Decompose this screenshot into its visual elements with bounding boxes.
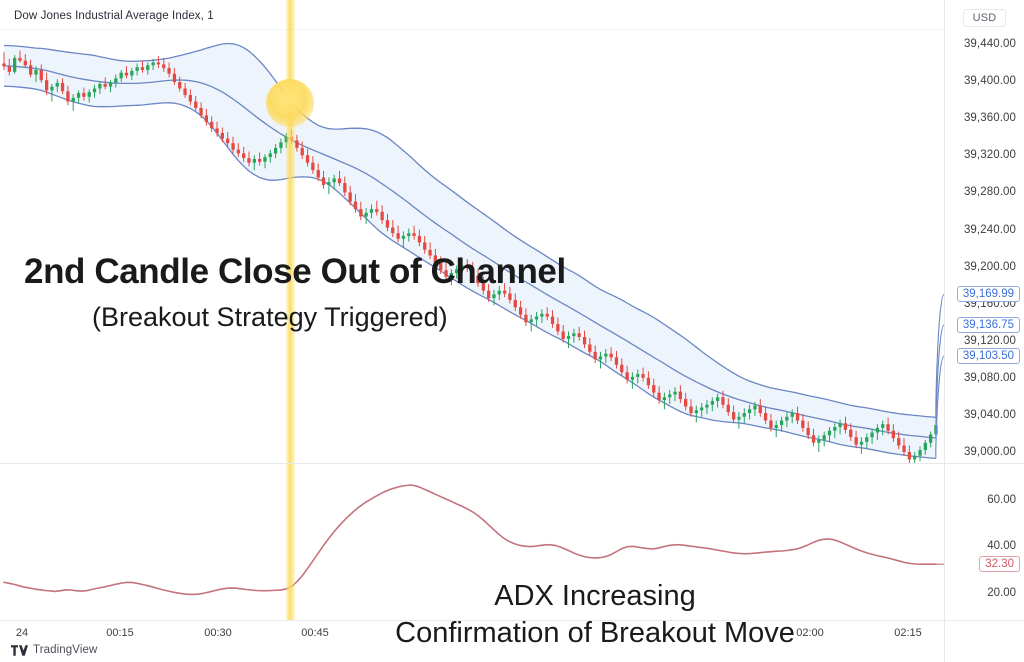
price-pane[interactable] — [0, 0, 944, 463]
band-price-label-bollinger-lower[interactable]: 39,103.50 — [957, 348, 1020, 364]
price-tick: 39,040.00 — [964, 409, 1016, 421]
currency-badge[interactable]: USD — [963, 9, 1007, 27]
time-tick: 00:15 — [106, 627, 134, 639]
time-axis[interactable]: 2400:1500:3000:4502:0002:15 — [0, 620, 944, 646]
symbol-title[interactable]: Dow Jones Industrial Average Index, 1 — [14, 10, 214, 22]
price-tick: 39,320.00 — [964, 149, 1016, 161]
adx-line — [4, 485, 936, 594]
time-tick: 24 — [16, 627, 28, 639]
price-tick: 39,200.00 — [964, 261, 1016, 273]
axis-pane-divider — [945, 463, 1024, 464]
adx-tick: 20.00 — [987, 587, 1016, 599]
price-axis[interactable]: USD 39,440.0039,400.0039,360.0039,320.00… — [944, 0, 1024, 662]
adx-tick: 60.00 — [987, 494, 1016, 506]
tradingview-logo-icon — [11, 645, 28, 656]
axis-time-divider — [945, 620, 1024, 621]
tradingview-logo[interactable]: TradingView — [11, 644, 97, 656]
candlestick-plot — [0, 0, 944, 463]
price-tick: 39,280.00 — [964, 186, 1016, 198]
tradingview-logo-text: TradingView — [33, 644, 97, 656]
adx-current-value-label[interactable]: 32.30 — [979, 556, 1020, 572]
price-tick: 39,360.00 — [964, 112, 1016, 124]
adx-plot — [0, 464, 944, 620]
time-tick: 00:45 — [301, 627, 329, 639]
band-price-label-bollinger-basis[interactable]: 39,136.75 — [957, 317, 1020, 333]
chart-root: Dow Jones Industrial Average Index, 1 US… — [0, 0, 1024, 662]
price-tick: 39,080.00 — [964, 372, 1016, 384]
price-tick: 39,400.00 — [964, 75, 1016, 87]
time-tick: 02:00 — [796, 627, 824, 639]
price-tick: 39,120.00 — [964, 335, 1016, 347]
adx-pane[interactable] — [0, 464, 944, 620]
header-divider — [0, 29, 944, 30]
band-price-label-bollinger-upper[interactable]: 39,169.99 — [957, 286, 1020, 302]
price-tick: 39,240.00 — [964, 224, 1016, 236]
price-tick: 39,000.00 — [964, 446, 1016, 458]
time-tick: 00:30 — [204, 627, 232, 639]
time-tick: 02:15 — [894, 627, 922, 639]
price-tick: 39,440.00 — [964, 38, 1016, 50]
pane-divider — [0, 463, 1024, 464]
adx-tick: 40.00 — [987, 540, 1016, 552]
